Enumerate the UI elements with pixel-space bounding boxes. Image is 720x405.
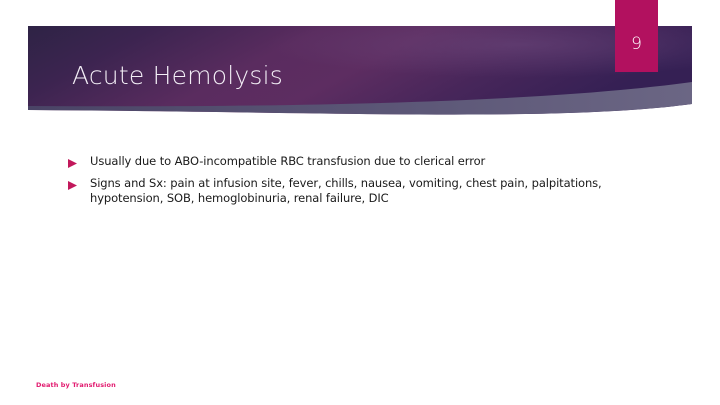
slide-number-badge: 9 (615, 0, 658, 72)
slide-canvas: Acute Hemolysis 9 Usually due to ABO-inc… (0, 0, 720, 405)
content-body: Usually due to ABO-incompatible RBC tran… (68, 154, 628, 214)
list-item: Usually due to ABO-incompatible RBC tran… (68, 154, 628, 169)
slide-number-text: 9 (615, 36, 658, 53)
footer-note: Death by Transfusion (36, 381, 116, 389)
page-title: Acute Hemolysis (72, 61, 283, 90)
list-item-text: Usually due to ABO-incompatible RBC tran… (90, 154, 628, 169)
play-triangle-icon (68, 176, 90, 190)
play-triangle-icon (68, 154, 90, 168)
list-item: Signs and Sx: pain at infusion site, fev… (68, 176, 628, 206)
list-item-text: Signs and Sx: pain at infusion site, fev… (90, 176, 628, 206)
